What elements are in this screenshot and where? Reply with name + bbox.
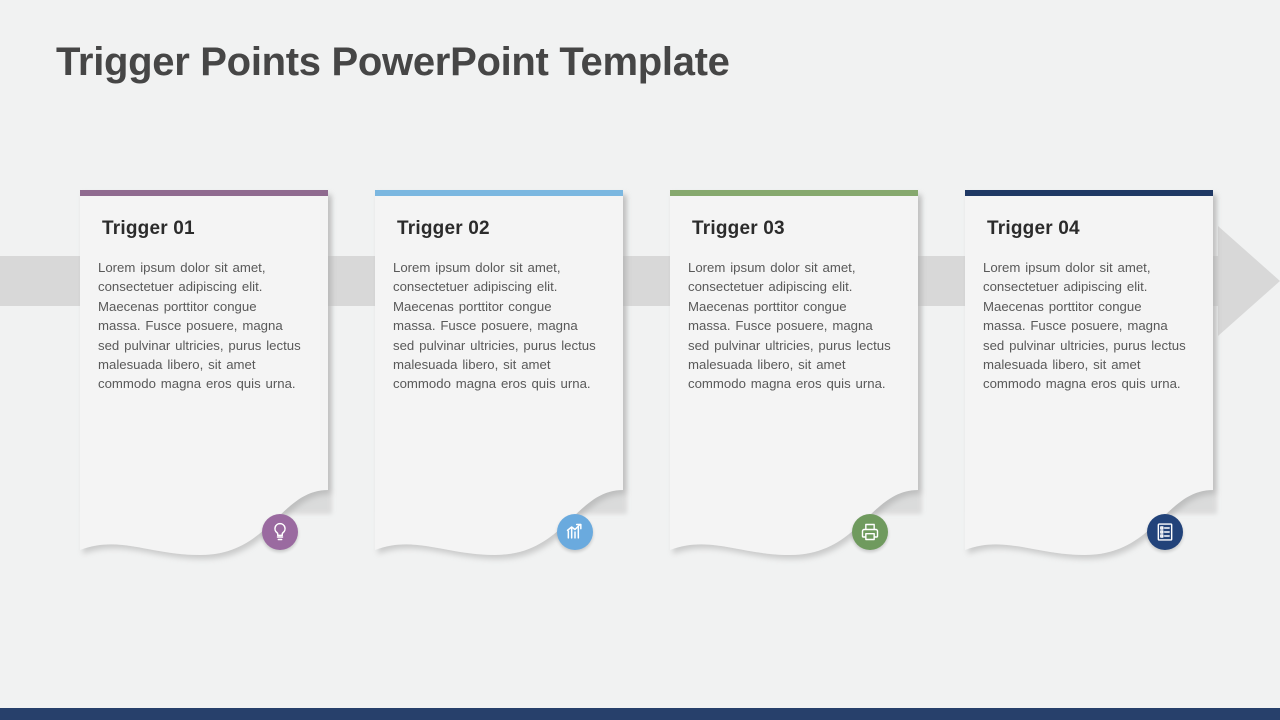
trigger-card-4[interactable]: Trigger 04 Lorem ipsum dolor sit amet, c… bbox=[965, 190, 1213, 560]
trigger-card-3[interactable]: Trigger 03 Lorem ipsum dolor sit amet, c… bbox=[670, 190, 918, 560]
slide-canvas: Trigger Points PowerPoint Template Trigg… bbox=[0, 0, 1280, 720]
lightbulb-icon[interactable] bbox=[262, 514, 298, 550]
card-heading-4: Trigger 04 bbox=[987, 218, 1080, 240]
trigger-card-1[interactable]: Trigger 01 Lorem ipsum dolor sit amet, c… bbox=[80, 190, 328, 560]
trigger-cards-row: Trigger 01 Lorem ipsum dolor sit amet, c… bbox=[0, 0, 1280, 720]
card-accent-bar-2 bbox=[375, 190, 623, 196]
card-body-2: Lorem ipsum dolor sit amet, consectetuer… bbox=[393, 258, 598, 394]
trigger-card-2[interactable]: Trigger 02 Lorem ipsum dolor sit amet, c… bbox=[375, 190, 623, 560]
bar-chart-trending-up-icon[interactable] bbox=[557, 514, 593, 550]
card-body-1: Lorem ipsum dolor sit amet, consectetuer… bbox=[98, 258, 303, 394]
card-heading-3: Trigger 03 bbox=[692, 218, 785, 240]
card-accent-bar-3 bbox=[670, 190, 918, 196]
card-body-4: Lorem ipsum dolor sit amet, consectetuer… bbox=[983, 258, 1188, 394]
card-accent-bar-1 bbox=[80, 190, 328, 196]
footer-bar bbox=[0, 708, 1280, 720]
checklist-document-icon[interactable] bbox=[1147, 514, 1183, 550]
printer-icon[interactable] bbox=[852, 514, 888, 550]
card-heading-2: Trigger 02 bbox=[397, 218, 490, 240]
card-heading-1: Trigger 01 bbox=[102, 218, 195, 240]
card-body-3: Lorem ipsum dolor sit amet, consectetuer… bbox=[688, 258, 893, 394]
card-accent-bar-4 bbox=[965, 190, 1213, 196]
